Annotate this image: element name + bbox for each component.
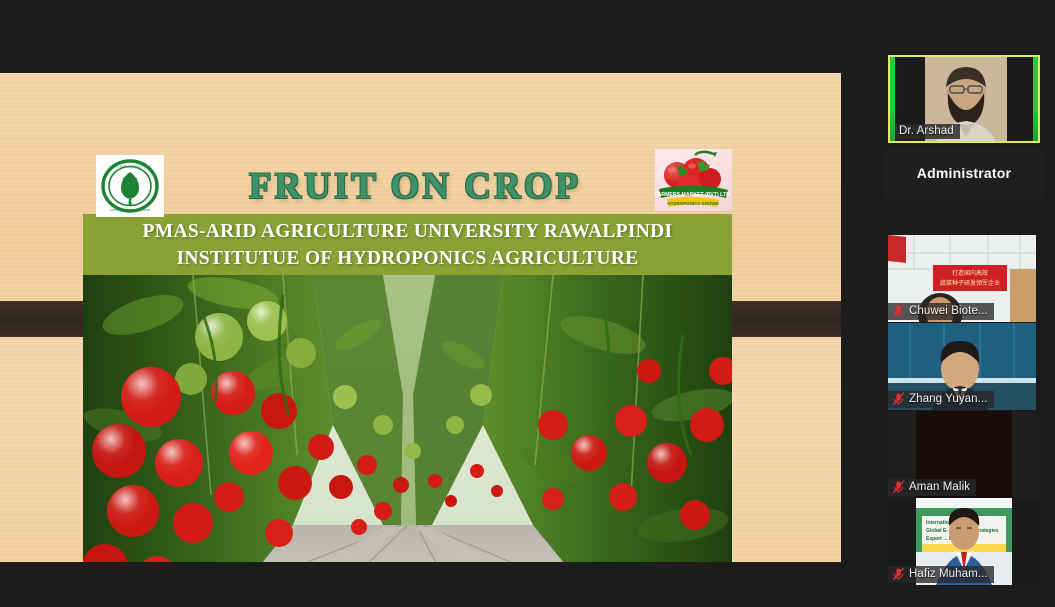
participant-name-arshad: Dr. Arshad bbox=[899, 125, 954, 137]
university-crest-logo: PMAS ARID AGRICULTURE UNIVERSITY RAWALPI… bbox=[96, 155, 164, 217]
participant-name-zhang: Zhang Yuyan... bbox=[909, 393, 988, 405]
svg-text:HYDROPONICS GROWN: HYDROPONICS GROWN bbox=[667, 201, 718, 206]
shared-screen-region[interactable]: PMAS ARID AGRICULTURE UNIVERSITY RAWALPI… bbox=[0, 73, 841, 562]
microphone-muted-icon bbox=[892, 392, 905, 406]
participant-name-badge-aman: Aman Malik bbox=[888, 479, 976, 496]
participant-tile-aman[interactable]: Aman Malik bbox=[888, 411, 1040, 498]
svg-text:PMAS ARID AGRICULTURE: PMAS ARID AGRICULTURE bbox=[109, 165, 150, 169]
participant-tile-zhang[interactable]: Zhang Yuyan... bbox=[888, 323, 1040, 410]
participant-tile-arshad[interactable]: Dr. Arshad bbox=[888, 55, 1040, 143]
participant-video-strip[interactable]: Dr. Arshad Administrator Administrator bbox=[884, 55, 1044, 607]
participant-name-badge-chuwei: Chuwei Biote... bbox=[888, 303, 994, 320]
svg-text:打造国内高效: 打造国内高效 bbox=[952, 269, 988, 277]
participant-name-aman: Aman Malik bbox=[909, 481, 970, 493]
participant-name-chuwei: Chuwei Biote... bbox=[909, 305, 988, 317]
participant-display-name-administrator: Administrator bbox=[917, 165, 1011, 181]
greenhouse-tomato-photo bbox=[83, 275, 732, 562]
slide-subtitle-band: PMAS-ARID AGRICULTURE UNIVERSITY RAWALPI… bbox=[83, 214, 732, 275]
participant-name-badge-arshad: Dr. Arshad bbox=[895, 124, 960, 139]
participant-tile-administrator[interactable]: Administrator Administrator bbox=[884, 147, 1044, 199]
participant-tile-chuwei[interactable]: 打造国内高效 蔬菜种子研发领军企业 Chuwei Biote... bbox=[888, 235, 1040, 322]
audio-level-indicator-right bbox=[1033, 57, 1038, 141]
slide-heading: FRUIT ON CROP bbox=[180, 165, 650, 208]
participant-name-badge-hafiz: Hafiz Muham... bbox=[888, 566, 994, 583]
microphone-muted-icon bbox=[892, 567, 905, 581]
farmers-market-tomato-logo: FARMERS MARKET (PVT) LTD. HYDROPONICS GR… bbox=[655, 149, 732, 211]
microphone-muted-icon bbox=[892, 480, 905, 494]
svg-text:UNIVERSITY RAWALPINDI: UNIVERSITY RAWALPINDI bbox=[110, 208, 151, 212]
participant-name-hafiz: Hafiz Muham... bbox=[909, 568, 988, 580]
microphone-muted-icon bbox=[892, 304, 905, 318]
slide-subtitle-line-1: PMAS-ARID AGRICULTURE UNIVERSITY RAWALPI… bbox=[143, 218, 673, 245]
svg-text:蔬菜种子研发领军企业: 蔬菜种子研发领军企业 bbox=[940, 279, 1000, 287]
video-conference-window: PMAS ARID AGRICULTURE UNIVERSITY RAWALPI… bbox=[0, 0, 1055, 607]
slide-subtitle-line-2: INSTITUTUE OF HYDROPONICS AGRICULTURE bbox=[176, 245, 638, 272]
svg-text:1994: 1994 bbox=[127, 203, 133, 206]
participant-name-badge-zhang: Zhang Yuyan... bbox=[888, 391, 994, 408]
participant-tile-hafiz[interactable]: International Global E- Marketing Strate… bbox=[888, 498, 1040, 585]
